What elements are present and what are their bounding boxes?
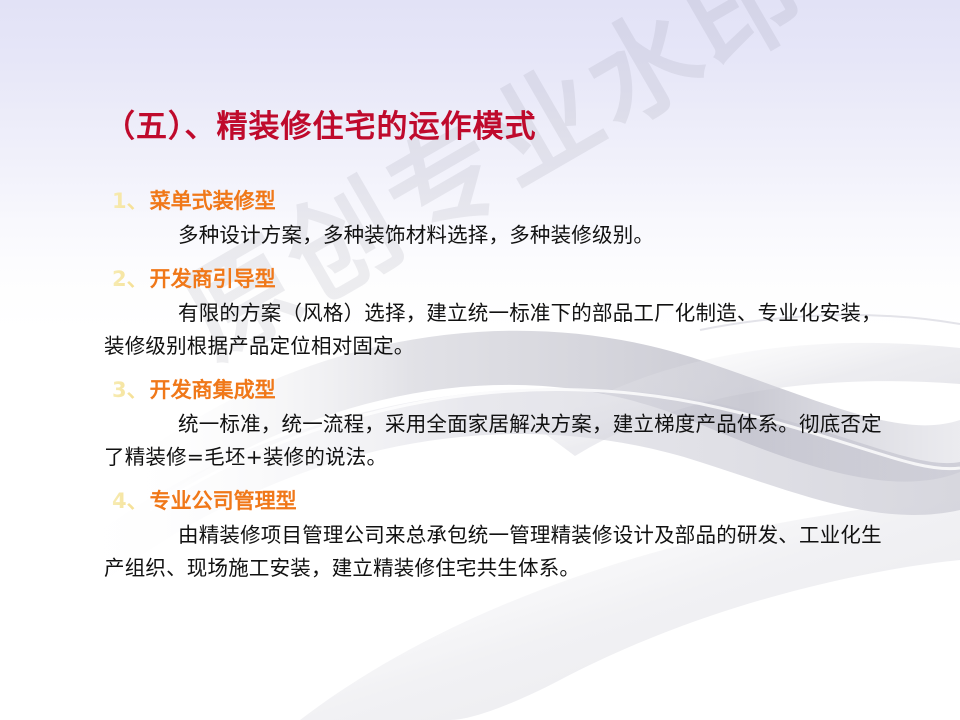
item-number: 3、 bbox=[112, 378, 150, 402]
item-heading: 3、开发商集成型 bbox=[112, 375, 902, 405]
item-number: 1、 bbox=[112, 189, 150, 213]
list-item: 4、专业公司管理型 由精装修项目管理公司来总承包统一管理精装修设计及部品的研发、… bbox=[112, 486, 902, 585]
list-item: 3、开发商集成型 统一标准，统一流程，采用全面家居解决方案，建立梯度产品体系。彻… bbox=[112, 375, 902, 474]
item-number: 4、 bbox=[112, 489, 150, 513]
list-item: 1、菜单式装修型 多种设计方案，多种装饰材料选择，多种装修级别。 bbox=[112, 186, 902, 252]
item-body: 有限的方案（风格）选择，建立统一标准下的部品工厂化制造、专业化安装，装修级别根据… bbox=[104, 297, 902, 363]
page-title: （五）、精装修住宅的运作模式 bbox=[104, 101, 537, 146]
item-heading: 1、菜单式装修型 bbox=[112, 186, 902, 216]
item-label: 开发商集成型 bbox=[150, 378, 276, 402]
item-body: 多种设计方案，多种装饰材料选择，多种装修级别。 bbox=[104, 219, 902, 252]
list-item: 2、开发商引导型 有限的方案（风格）选择，建立统一标准下的部品工厂化制造、专业化… bbox=[112, 264, 902, 363]
content-list: 1、菜单式装修型 多种设计方案，多种装饰材料选择，多种装修级别。 2、开发商引导… bbox=[112, 186, 902, 597]
item-label: 菜单式装修型 bbox=[150, 189, 276, 213]
item-label: 专业公司管理型 bbox=[150, 489, 297, 513]
slide-canvas: 原创专业水印 （五）、精装修住宅的运作模式 1、菜单式装修型 多种设计方案，多种… bbox=[0, 0, 960, 720]
item-body: 由精装修项目管理公司来总承包统一管理精装修设计及部品的研发、工业化生产组织、现场… bbox=[104, 519, 902, 585]
item-label: 开发商引导型 bbox=[150, 267, 276, 291]
item-heading: 4、专业公司管理型 bbox=[112, 486, 902, 516]
slide-content: （五）、精装修住宅的运作模式 1、菜单式装修型 多种设计方案，多种装饰材料选择，… bbox=[0, 0, 960, 720]
item-heading: 2、开发商引导型 bbox=[112, 264, 902, 294]
item-number: 2、 bbox=[112, 267, 150, 291]
item-body: 统一标准，统一流程，采用全面家居解决方案，建立梯度产品体系。彻底否定了精装修=毛… bbox=[104, 408, 902, 474]
